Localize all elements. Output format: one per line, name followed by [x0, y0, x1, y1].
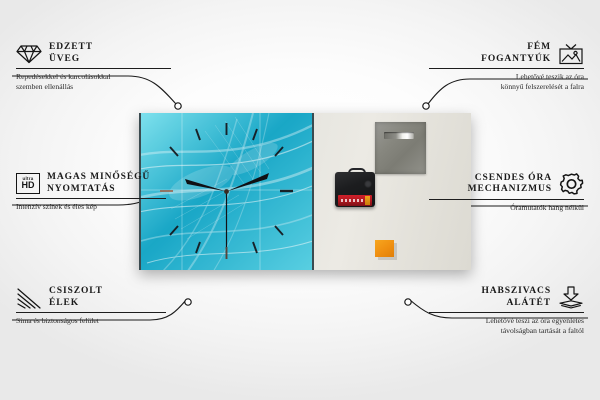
feature-description: Intenzív színek és éles kép — [16, 202, 166, 212]
metal-hanger-bracket — [375, 122, 426, 174]
connector-dot-edges — [185, 299, 191, 305]
feature-polished-edges: CSISZOLT ÉLEK Sima és biztonságos felüle… — [16, 286, 166, 326]
connector-dot-handles — [423, 103, 429, 109]
clock-center-cap — [224, 189, 229, 194]
feature-title: FÉM FOGANTYÚK — [481, 42, 551, 65]
feature-title: EDZETT ÜVEG — [49, 42, 93, 65]
feature-title: MAGAS MINŐSÉGŰ NYOMTATÁS — [47, 172, 150, 195]
divider-rule — [429, 199, 584, 200]
feature-description: Óramutatók hang nélkül — [429, 203, 584, 213]
feature-description: Lehetővé teszik az óra könnyű felszerelé… — [429, 72, 584, 91]
divider-rule — [16, 68, 171, 69]
infographic-canvas: EDZETT ÜVEG Repedésekkel és karcolásokka… — [0, 0, 600, 400]
polished-edge-icon — [16, 287, 42, 309]
divider-rule — [16, 198, 166, 199]
hanger-slot — [384, 132, 414, 139]
connector-dot-tempered-glass — [175, 103, 181, 109]
minute-hand — [227, 173, 270, 192]
feature-description: Lehetővé teszi az óra egyenletes távolsá… — [429, 316, 584, 335]
feature-tempered-glass: EDZETT ÜVEG Repedésekkel és karcolásokka… — [16, 42, 171, 91]
feature-title: CSENDES ÓRA MECHANIZMUS — [468, 173, 552, 196]
divider-rule — [429, 312, 584, 313]
battery-terminal — [365, 196, 370, 205]
foam-spacer-pad — [375, 240, 394, 257]
battery — [338, 195, 372, 206]
mechanism-body — [335, 172, 375, 207]
foam-pad-icon — [558, 286, 584, 309]
battery-label — [341, 199, 363, 202]
quartz-clock-mechanism — [335, 168, 375, 207]
hd-badge-large-text: HD — [22, 181, 35, 190]
feature-high-quality-print: ultra HD MAGAS MINŐSÉGŰ NYOMTATÁS Intenz… — [16, 172, 166, 212]
wall-hanger-icon — [558, 43, 584, 65]
ultra-hd-badge-icon: ultra HD — [16, 173, 40, 194]
divider-rule — [16, 312, 166, 313]
clock-face — [141, 113, 312, 270]
feature-description: Sima és biztonságos felület — [16, 316, 166, 326]
connector-dot-foam — [405, 299, 411, 305]
hour-hand — [185, 179, 227, 192]
feature-title: CSISZOLT ÉLEK — [49, 286, 103, 309]
divider-rule — [429, 68, 584, 69]
mechanism-setting-dial — [364, 180, 372, 188]
feature-metal-handles: FÉM FOGANTYÚK Lehetővé teszik az óra kön… — [429, 42, 584, 91]
feature-silent-mechanism: CSENDES ÓRA MECHANIZMUS Óramutatók hang … — [429, 172, 584, 213]
feature-description: Repedésekkel és karcolásokkal szemben el… — [16, 72, 171, 91]
feature-foam-pad: HABSZIVACS ALÁTÉT Lehetővé teszi az óra … — [429, 286, 584, 335]
product-image — [139, 113, 469, 270]
gear-icon — [559, 172, 584, 196]
feature-title: HABSZIVACS ALÁTÉT — [481, 286, 551, 309]
diamond-icon — [16, 43, 42, 64]
